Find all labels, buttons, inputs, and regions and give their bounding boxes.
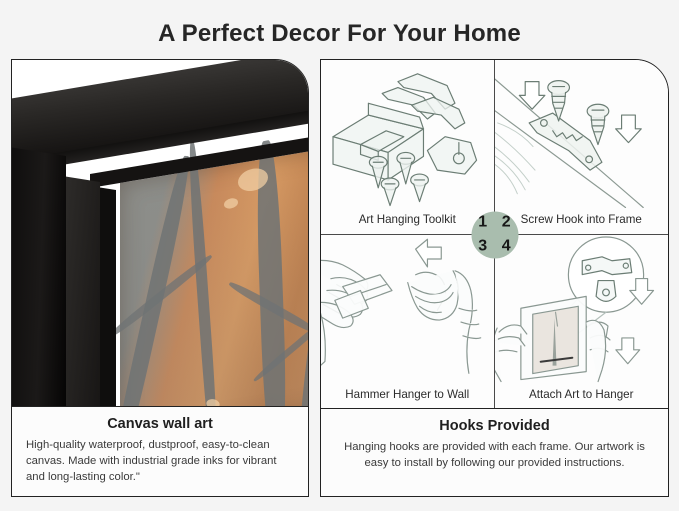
frame-side-depth [12,146,66,407]
tree-trunk [295,137,308,407]
instruction-step-1: Art Hanging Toolkit [321,60,495,235]
instruction-step-4: Attach Art to Hanger [495,235,669,410]
artwork-image [120,145,308,407]
page-title: A Perfect Decor For Your Home [0,20,679,48]
hands-hammering-hanger-icon [321,235,494,384]
frame-inner-left-lip [100,187,116,407]
hands-hanging-art-icon [495,235,669,384]
screws-into-bracket-icon [495,60,669,208]
badge-number-2: 2 [502,215,511,231]
instruction-step-3: Hammer Hanger to Wall [321,235,495,410]
canvas-caption-body: High-quality waterproof, dustproof, easy… [26,437,294,485]
instruction-step-4-label: Attach Art to Hanger [495,388,669,401]
infographic-page: A Perfect Decor For Your Home [0,0,679,511]
toolkit-box-screws-hangers-icon [321,60,494,208]
hooks-instructions-card: Art Hanging Toolkit [320,59,669,497]
canvas-closeup-photo [12,60,308,407]
frame-left-face [64,176,100,407]
leaf-highlight [224,197,238,209]
canvas-product-card: Canvas wall art High-quality waterproof,… [11,59,309,497]
instruction-step-2-label: Screw Hook into Frame [495,213,669,226]
hooks-caption-title: Hooks Provided [335,418,654,434]
instruction-step-2: Screw Hook into Frame [495,60,669,235]
hooks-caption: Hooks Provided Hanging hooks are provide… [321,408,668,496]
badge-number-3: 3 [478,238,487,254]
instruction-step-3-label: Hammer Hanger to Wall [321,388,494,401]
hooks-caption-body: Hanging hooks are provided with each fra… [335,439,654,471]
instruction-step-1-label: Art Hanging Toolkit [321,213,494,226]
badge-number-4: 4 [502,238,511,254]
badge-number-1: 1 [478,215,487,231]
canvas-caption-title: Canvas wall art [26,416,294,432]
step-number-badge: 1 2 3 4 [471,211,518,258]
canvas-caption: Canvas wall art High-quality waterproof,… [12,406,308,496]
